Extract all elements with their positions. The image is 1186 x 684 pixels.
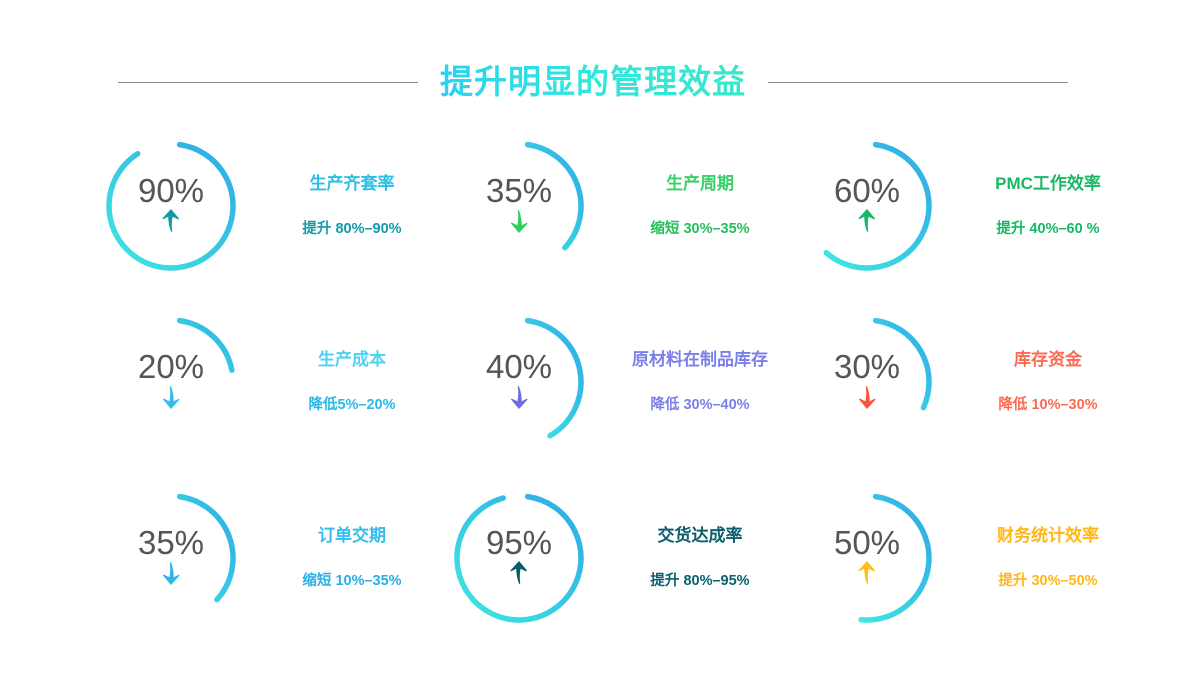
progress-ring: 30%	[792, 307, 942, 457]
progress-ring: 20%	[96, 307, 246, 457]
progress-ring: 40%	[444, 307, 594, 457]
arrow-down-icon	[96, 384, 246, 410]
progress-ring: 90%	[96, 131, 246, 281]
metric-text-block: 生产齐套率提升 80%–90%	[260, 174, 444, 238]
metric-grid: 90%生产齐套率提升 80%–90%35%生产周期缩短 30%–35%60%PM…	[96, 118, 1096, 646]
metric-subtitle: 降低 30%–40%	[608, 397, 792, 414]
metric-title: PMC工作效率	[956, 174, 1140, 194]
title-rule-left	[118, 82, 418, 83]
metric-text-block: 原材料在制品库存降低 30%–40%	[608, 350, 792, 414]
metric-title: 财务统计效率	[956, 526, 1140, 546]
metric-text-block: 交货达成率提升 80%–95%	[608, 526, 792, 590]
ring-center: 35%	[96, 526, 246, 586]
ring-center: 90%	[96, 174, 246, 234]
metric-title: 原材料在制品库存	[608, 350, 792, 370]
arrow-up-icon	[444, 560, 594, 586]
progress-ring: 95%	[444, 483, 594, 633]
metric-subtitle: 提升 30%–50%	[956, 573, 1140, 590]
ring-value: 30%	[792, 350, 942, 383]
page-title: 提升明显的管理效益	[440, 64, 746, 100]
ring-center: 95%	[444, 526, 594, 586]
metric-text-block: 订单交期缩短 10%–35%	[260, 526, 444, 590]
ring-value: 35%	[444, 174, 594, 207]
arrow-up-icon	[792, 560, 942, 586]
ring-center: 50%	[792, 526, 942, 586]
metric-title: 生产成本	[260, 350, 444, 370]
ring-center: 20%	[96, 350, 246, 410]
metric-cell: 50%财务统计效率提升 30%–50%	[792, 470, 1140, 646]
title-rule-right	[768, 82, 1068, 83]
arrow-down-icon	[792, 384, 942, 410]
ring-value: 60%	[792, 174, 942, 207]
metric-subtitle: 降低5%–20%	[260, 397, 444, 414]
metric-cell: 95%交货达成率提升 80%–95%	[444, 470, 792, 646]
metric-cell: 90%生产齐套率提升 80%–90%	[96, 118, 444, 294]
metric-title: 订单交期	[260, 526, 444, 546]
metric-cell: 35%生产周期缩短 30%–35%	[444, 118, 792, 294]
metric-subtitle: 缩短 30%–35%	[608, 221, 792, 238]
arrow-down-icon	[444, 208, 594, 234]
metric-title: 库存资金	[956, 350, 1140, 370]
progress-ring: 50%	[792, 483, 942, 633]
metric-subtitle: 提升 80%–95%	[608, 573, 792, 590]
ring-value: 50%	[792, 526, 942, 559]
ring-value: 20%	[96, 350, 246, 383]
metric-text-block: PMC工作效率提升 40%–60 %	[956, 174, 1140, 238]
metric-subtitle: 降低 10%–30%	[956, 397, 1140, 414]
page-header: 提升明显的管理效益	[0, 54, 1186, 110]
arrow-down-icon	[444, 384, 594, 410]
metric-title: 生产齐套率	[260, 174, 444, 194]
progress-ring: 35%	[96, 483, 246, 633]
arrow-up-icon	[96, 208, 246, 234]
arrow-down-icon	[96, 560, 246, 586]
metric-cell: 30%库存资金降低 10%–30%	[792, 294, 1140, 470]
progress-ring: 60%	[792, 131, 942, 281]
metric-cell: 40%原材料在制品库存降低 30%–40%	[444, 294, 792, 470]
metric-title: 生产周期	[608, 174, 792, 194]
metric-subtitle: 缩短 10%–35%	[260, 573, 444, 590]
ring-center: 30%	[792, 350, 942, 410]
metric-cell: 35%订单交期缩短 10%–35%	[96, 470, 444, 646]
metric-subtitle: 提升 80%–90%	[260, 221, 444, 238]
ring-value: 35%	[96, 526, 246, 559]
metric-text-block: 财务统计效率提升 30%–50%	[956, 526, 1140, 590]
metric-cell: 60%PMC工作效率提升 40%–60 %	[792, 118, 1140, 294]
metric-text-block: 生产成本降低5%–20%	[260, 350, 444, 414]
arrow-up-icon	[792, 208, 942, 234]
metric-subtitle: 提升 40%–60 %	[956, 221, 1140, 238]
ring-value: 95%	[444, 526, 594, 559]
ring-center: 35%	[444, 174, 594, 234]
progress-ring: 35%	[444, 131, 594, 281]
ring-value: 90%	[96, 174, 246, 207]
ring-center: 60%	[792, 174, 942, 234]
ring-value: 40%	[444, 350, 594, 383]
metric-text-block: 生产周期缩短 30%–35%	[608, 174, 792, 238]
ring-center: 40%	[444, 350, 594, 410]
metric-cell: 20%生产成本降低5%–20%	[96, 294, 444, 470]
metric-title: 交货达成率	[608, 526, 792, 546]
metric-text-block: 库存资金降低 10%–30%	[956, 350, 1140, 414]
